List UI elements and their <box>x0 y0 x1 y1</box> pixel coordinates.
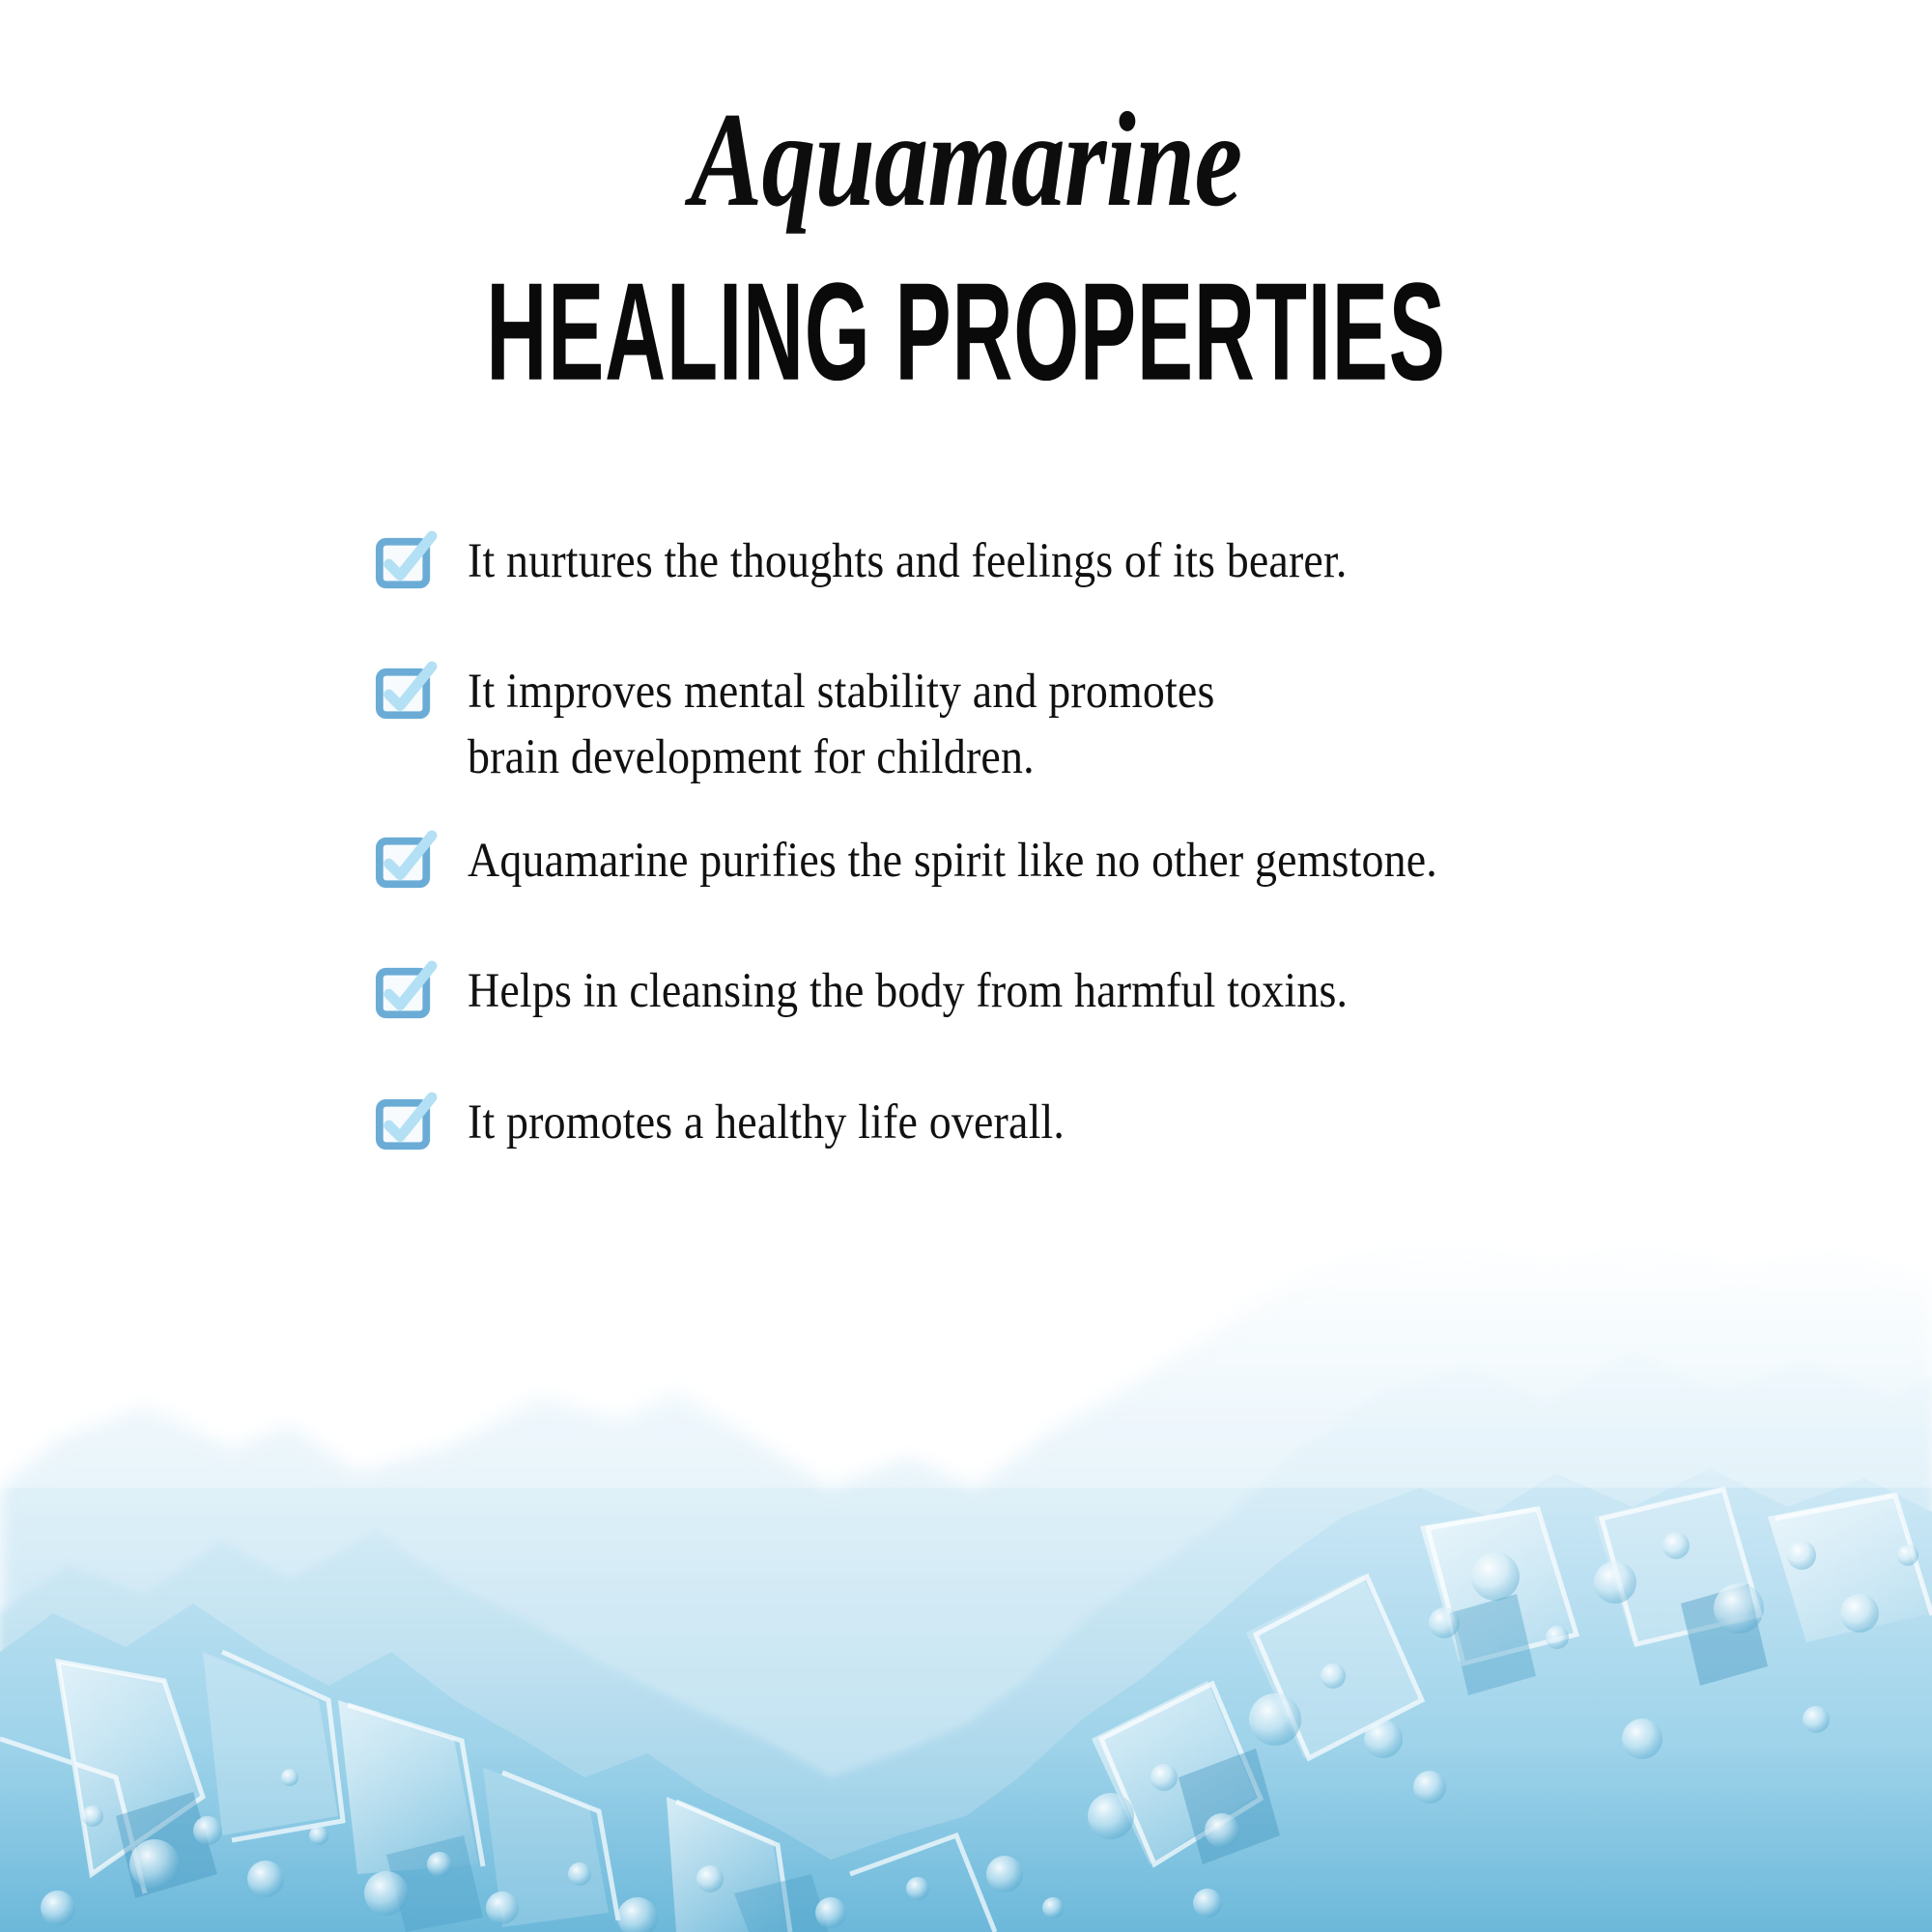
header-block: Aquamarine HEALING PROPERTIES <box>0 93 1932 377</box>
checkbox-checked-icon[interactable] <box>375 533 435 593</box>
list-item[interactable]: It promotes a healthy life overall. <box>375 1091 1747 1155</box>
list-item[interactable]: Helps in cleansing the body from harmful… <box>375 959 1747 1024</box>
list-item-label: It improves mental stability and promote… <box>468 660 1215 790</box>
list-item-label: Aquamarine purifies the spirit like no o… <box>468 829 1437 894</box>
list-item[interactable]: It improves mental stability and promote… <box>375 660 1747 790</box>
page-subtitle: HEALING PROPERTIES <box>251 263 1681 402</box>
checkbox-checked-icon[interactable] <box>375 833 435 893</box>
checkbox-checked-icon[interactable] <box>375 664 435 724</box>
list-item[interactable]: Aquamarine purifies the spirit like no o… <box>375 829 1747 894</box>
list-item-label: Helps in cleansing the body from harmful… <box>468 959 1348 1024</box>
healing-properties-list: It nurtures the thoughts and feelings of… <box>375 529 1747 1221</box>
ice-cubes-photo <box>0 1198 1932 1932</box>
checkbox-checked-icon[interactable] <box>375 963 435 1023</box>
list-item-label: It nurtures the thoughts and feelings of… <box>468 529 1348 594</box>
page-title: Aquamarine <box>193 93 1739 228</box>
poster-canvas: Aquamarine HEALING PROPERTIES It nurture… <box>0 0 1932 1932</box>
list-item[interactable]: It nurtures the thoughts and feelings of… <box>375 529 1747 594</box>
list-item-label: It promotes a healthy life overall. <box>468 1091 1065 1155</box>
checkbox-checked-icon[interactable] <box>375 1094 435 1154</box>
